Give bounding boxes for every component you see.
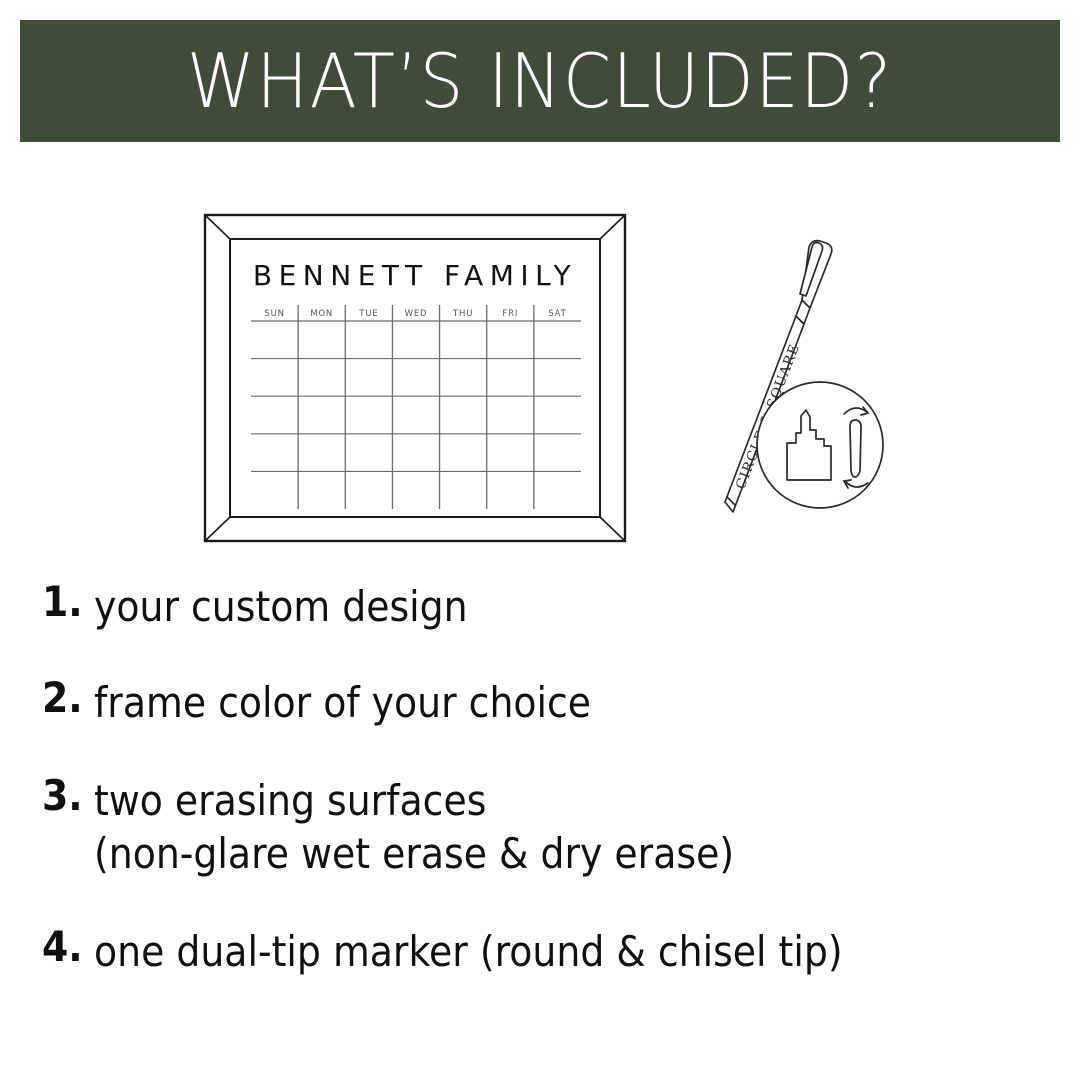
list-item: 2. frame color of your choice <box>0 676 1080 730</box>
list-item-label: one dual-tip marker (round & chisel tip) <box>94 925 843 979</box>
list-item-label: two erasing surfaces (non-glare wet eras… <box>94 774 734 882</box>
list-item-number: 4. <box>42 925 89 969</box>
list-item-label: frame color of your choice <box>94 676 591 730</box>
calendar-board-title: BENNETT FAMILY <box>253 259 577 292</box>
page-title: WHAT’S INCLUDED? <box>187 44 893 119</box>
list-item: 4. one dual-tip marker (round & chisel t… <box>0 925 1080 979</box>
list-item: 1. your custom design <box>0 580 1080 634</box>
list-item-label: your custom design <box>94 580 468 634</box>
product-illustration: BENNETT FAMILY SUNMONTUEWEDTHUFRISAT <box>0 160 1080 580</box>
list-item-number: 1. <box>42 580 89 624</box>
framed-family-calendar: BENNETT FAMILY SUNMONTUEWEDTHUFRISAT <box>203 213 627 543</box>
calendar-day-label: MON <box>310 309 333 319</box>
calendar-day-label: FRI <box>502 309 518 319</box>
calendar-day-label: WED <box>405 309 428 319</box>
dual-tip-marker: CIRCLE & SQUARE <box>700 220 910 520</box>
list-item: 3. two erasing surfaces (non-glare wet e… <box>0 774 1080 882</box>
list-item-number: 2. <box>42 676 89 720</box>
marker-tip-detail-inset <box>757 382 883 508</box>
header-banner: WHAT’S INCLUDED? <box>20 20 1060 142</box>
calendar-day-label: THU <box>452 309 473 319</box>
calendar-day-label: SUN <box>264 309 284 319</box>
round-tip-icon <box>850 420 861 477</box>
included-items-list: 1. your custom design 2. frame color of … <box>0 580 1080 979</box>
calendar-day-label: TUE <box>358 309 378 319</box>
list-item-number: 3. <box>42 774 89 818</box>
calendar-day-label: SAT <box>548 309 566 319</box>
